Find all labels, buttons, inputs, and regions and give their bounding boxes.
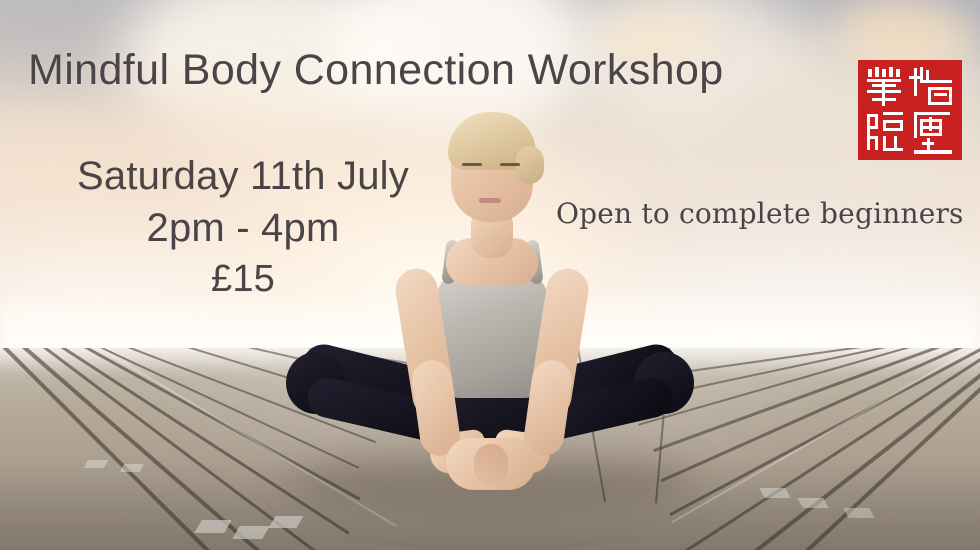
schedule-block: Saturday 11th July 2pm - 4pm £15: [58, 150, 428, 304]
event-time: 2pm - 4pm: [58, 202, 428, 254]
page-title: Mindful Body Connection Workshop: [28, 46, 724, 95]
event-date: Saturday 11th July: [58, 150, 428, 202]
hand-shading: [474, 444, 508, 486]
chinese-seal-stamp-icon: [858, 60, 962, 160]
event-price: £15: [58, 254, 428, 304]
left-eye-closed: [462, 163, 482, 166]
mouth: [479, 198, 501, 203]
tagline: Open to complete beginners: [556, 197, 964, 230]
hair-bun: [516, 146, 544, 184]
right-eye-closed: [500, 163, 520, 166]
workshop-poster: Mindful Body Connection Workshop Saturda…: [0, 0, 980, 550]
